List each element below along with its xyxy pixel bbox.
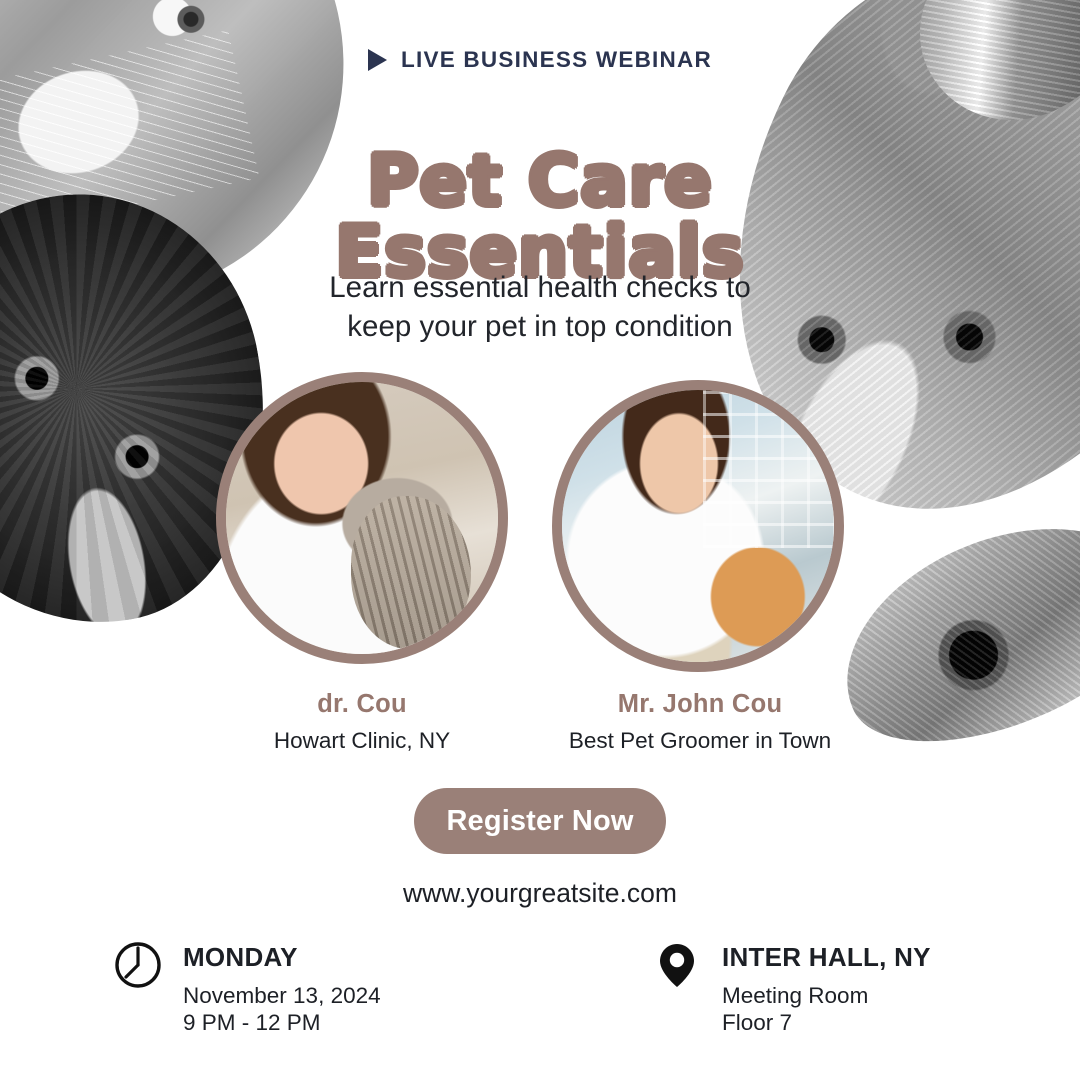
location-pin-icon <box>652 940 702 990</box>
play-triangle-icon <box>368 49 387 71</box>
website-url[interactable]: www.yourgreatsite.com <box>0 878 1080 909</box>
speaker-avatar-2 <box>552 380 844 672</box>
poster-content: LIVE BUSINESS WEBINAR Pet Care Essential… <box>0 0 1080 1080</box>
eyebrow-banner: LIVE BUSINESS WEBINAR <box>0 47 1080 73</box>
event-date-text: MONDAY November 13, 2024 9 PM - 12 PM <box>183 938 381 1037</box>
eyebrow-label: LIVE BUSINESS WEBINAR <box>401 47 712 73</box>
venue-name-label: INTER HALL, NY <box>722 942 931 973</box>
event-venue-text: INTER HALL, NY Meeting Room Floor 7 <box>722 938 931 1037</box>
speaker-photo-woman-with-cat <box>226 382 498 654</box>
event-date-label: November 13, 2024 <box>183 982 381 1009</box>
register-now-button[interactable]: Register Now <box>414 788 666 854</box>
speaker-caption-2: Mr. John Cou Best Pet Groomer in Town <box>520 690 880 754</box>
speaker-photos <box>0 372 1080 672</box>
speaker-role-1: Howart Clinic, NY <box>182 728 542 754</box>
speaker-name-2: Mr. John Cou <box>520 690 880 719</box>
page-title: Pet Care Essentials <box>0 146 1080 289</box>
speaker-avatar-1 <box>216 372 508 664</box>
speaker-name-1: dr. Cou <box>182 690 542 719</box>
event-time-label: 9 PM - 12 PM <box>183 1009 381 1036</box>
event-venue-block: INTER HALL, NY Meeting Room Floor 7 <box>652 938 931 1037</box>
speaker-captions: dr. Cou Howart Clinic, NY Mr. John Cou B… <box>0 690 1080 780</box>
event-date-block: MONDAY November 13, 2024 9 PM - 12 PM <box>113 938 381 1037</box>
subtitle-line-1: Learn essential health checks to <box>0 269 1080 308</box>
webinar-poster: LIVE BUSINESS WEBINAR Pet Care Essential… <box>0 0 1080 1080</box>
venue-room-label: Meeting Room <box>722 982 931 1009</box>
subtitle-line-2: keep your pet in top condition <box>0 308 1080 347</box>
speaker-photo-man-with-cat <box>562 390 834 662</box>
speaker-caption-1: dr. Cou Howart Clinic, NY <box>182 690 542 754</box>
event-day-label: MONDAY <box>183 942 381 973</box>
speaker-role-2: Best Pet Groomer in Town <box>520 728 880 754</box>
clock-icon <box>113 940 163 990</box>
venue-floor-label: Floor 7 <box>722 1009 931 1036</box>
title-line-1: Pet Care <box>0 146 1080 217</box>
page-subtitle: Learn essential health checks to keep yo… <box>0 269 1080 347</box>
